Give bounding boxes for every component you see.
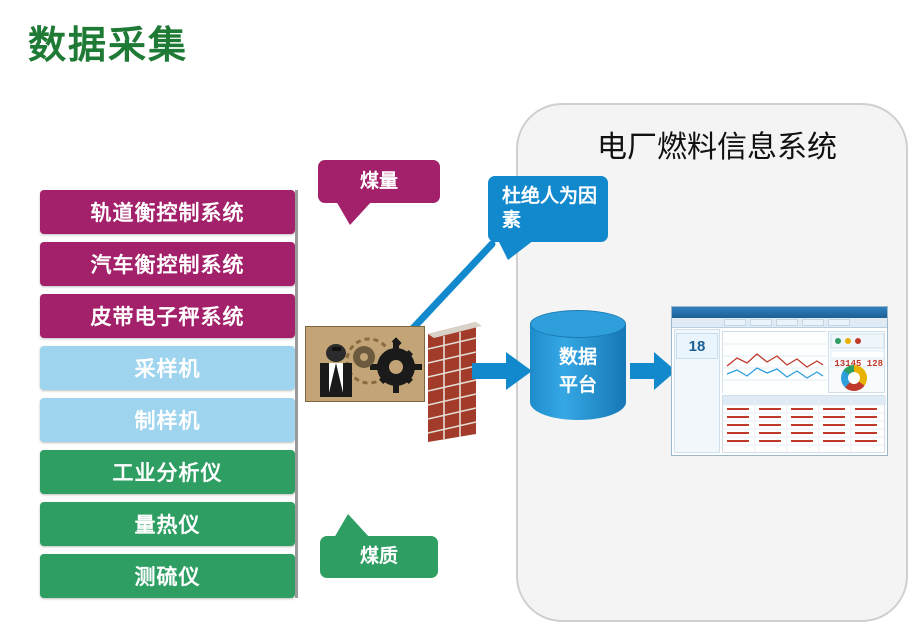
source-item-label: 轨道衡控制系统 [40,190,295,234]
dashboard-line-chart [722,331,826,393]
callout-tail-icon [334,514,370,538]
callout-tail-icon [336,201,372,225]
source-item-label: 制样机 [40,398,295,442]
dashboard-donut-chart [841,365,867,391]
arrow-right-icon [472,352,534,395]
source-systems-list: 轨道衡控制系统 汽车衡控制系统 皮带电子秤系统 采样机 制样机 工业分析仪 量热… [40,190,295,606]
dashboard-big-number: 18 [676,333,718,359]
dashboard-tab[interactable] [724,319,746,326]
dashboard-tab[interactable] [750,319,772,326]
worker-gear-icon [305,326,425,402]
system-title: 电厂燃料信息系统 [552,122,882,166]
dashboard-tab[interactable] [776,319,798,326]
vertical-divider [295,190,298,598]
callout-coal-amount-label: 煤量 [360,170,398,194]
dashboard-table [722,395,885,453]
source-item-label: 量热仪 [40,502,295,546]
dashboard-tab[interactable] [828,319,850,326]
callout-coal-quality[interactable]: 煤质 [320,536,438,578]
list-item[interactable]: 轨道衡控制系统 [40,190,295,234]
callout-coal-quality-label: 煤质 [360,545,398,569]
list-item[interactable]: 皮带电子秤系统 [40,294,295,338]
callout-no-human-factor-label: 杜绝人为因素 [494,185,602,233]
database-cylinder-icon: 数据 平台 [530,310,626,434]
list-item[interactable]: 测硫仪 [40,554,295,598]
source-item-label: 测硫仪 [40,554,295,598]
list-item[interactable]: 量热仪 [40,502,295,546]
callout-coal-amount[interactable]: 煤量 [318,160,440,203]
list-item[interactable]: 采样机 [40,346,295,390]
dashboard-screenshot-icon[interactable]: 18 [671,306,888,456]
source-item-label: 汽车衡控制系统 [40,242,295,286]
source-item-label: 采样机 [40,346,295,390]
dashboard-tab[interactable] [802,319,824,326]
slide-canvas: 数据采集 轨道衡控制系统 汽车衡控制系统 皮带电子秤系统 采样机 制样机 工业分… [0,0,918,637]
list-item[interactable]: 汽车衡控制系统 [40,242,295,286]
database-label: 数据 平台 [530,344,626,399]
list-item[interactable]: 工业分析仪 [40,450,295,494]
source-item-label: 工业分析仪 [40,450,295,494]
list-item[interactable]: 制样机 [40,398,295,442]
dashboard-titlebar [672,307,887,318]
cylinder-top [530,310,626,338]
callout-tail-icon [498,240,534,260]
callout-no-human-factor[interactable]: 杜绝人为因素 [488,176,608,242]
source-item-label: 皮带电子秤系统 [40,294,295,338]
page-title: 数据采集 [28,14,188,69]
